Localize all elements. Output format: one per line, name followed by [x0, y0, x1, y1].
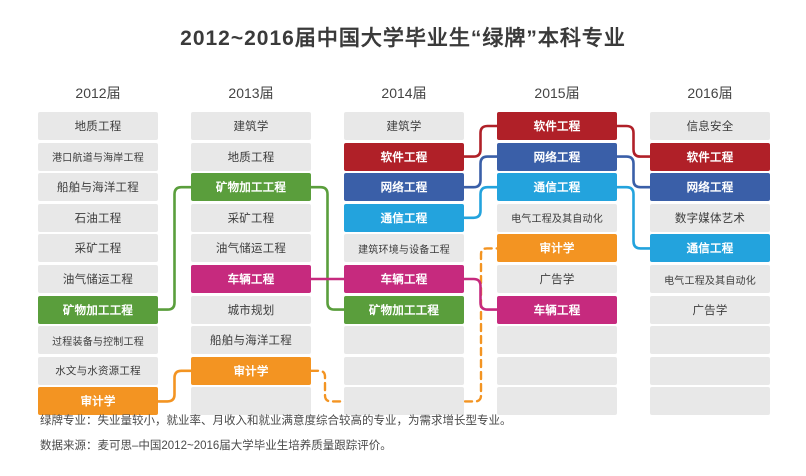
column-header-2015届: 2015届 — [497, 83, 617, 103]
major-cell[interactable]: 审计学 — [191, 357, 311, 385]
major-cell[interactable]: 电气工程及其自动化 — [650, 265, 770, 293]
major-cell[interactable]: 建筑学 — [191, 112, 311, 140]
major-cell[interactable]: 船舶与海洋工程 — [38, 173, 158, 201]
link-software-2015-2016 — [617, 126, 650, 157]
major-cell-empty — [497, 357, 617, 385]
major-cell[interactable]: 软件工程 — [344, 143, 464, 171]
link-comms-2015-2016 — [617, 187, 650, 248]
footnote-definition: 绿牌专业：失业量较小，就业率、月收入和就业满意度综合较高的专业，为需求增长型专业… — [40, 412, 512, 428]
major-cell[interactable]: 信息安全 — [650, 112, 770, 140]
link-audit-2012-2013 — [158, 371, 191, 402]
link-software-2014-2015 — [464, 126, 497, 157]
major-cell[interactable]: 城市规划 — [191, 296, 311, 324]
major-cell[interactable]: 地质工程 — [38, 112, 158, 140]
major-cell[interactable]: 油气储运工程 — [191, 234, 311, 262]
major-cell[interactable]: 水文与水资源工程 — [38, 357, 158, 385]
major-cell[interactable]: 广告学 — [650, 296, 770, 324]
major-cell-empty — [344, 357, 464, 385]
link-network-2015-2016 — [617, 157, 650, 188]
major-cell-empty — [650, 326, 770, 354]
link-network-2014-2015 — [464, 157, 497, 188]
major-cell[interactable]: 油气储运工程 — [38, 265, 158, 293]
major-cell-empty — [344, 326, 464, 354]
column-header-2016届: 2016届 — [650, 83, 770, 103]
major-cell[interactable]: 矿物加工工程 — [38, 296, 158, 324]
major-cell-empty — [650, 357, 770, 385]
major-cell[interactable]: 建筑学 — [344, 112, 464, 140]
link-mineral-2012-2013 — [158, 187, 191, 309]
page-title: 2012~2016届中国大学毕业生“绿牌”本科专业 — [0, 22, 806, 52]
major-cell[interactable]: 车辆工程 — [497, 296, 617, 324]
major-cell[interactable]: 软件工程 — [650, 143, 770, 171]
major-cell[interactable]: 采矿工程 — [38, 234, 158, 262]
major-cell[interactable]: 石油工程 — [38, 204, 158, 232]
column-header-2012届: 2012届 — [38, 83, 158, 103]
column-header-2014届: 2014届 — [344, 83, 464, 103]
column-header-2013届: 2013届 — [191, 83, 311, 103]
major-cell[interactable]: 矿物加工工程 — [344, 296, 464, 324]
major-cell[interactable]: 采矿工程 — [191, 204, 311, 232]
major-cell[interactable]: 地质工程 — [191, 143, 311, 171]
infographic-root: 2012~2016届中国大学毕业生“绿牌”本科专业 2012届地质工程港口航道与… — [0, 0, 806, 476]
major-cell[interactable]: 软件工程 — [497, 112, 617, 140]
major-cell-empty — [497, 326, 617, 354]
link-vehicle-2014-2015 — [464, 279, 497, 310]
major-cell-empty — [650, 387, 770, 415]
major-cell[interactable]: 通信工程 — [344, 204, 464, 232]
major-cell[interactable]: 港口航道与海岸工程 — [38, 143, 158, 171]
major-cell[interactable]: 过程装备与控制工程 — [38, 326, 158, 354]
link-mineral-2013-2014 — [311, 187, 344, 309]
major-cell[interactable]: 通信工程 — [650, 234, 770, 262]
footnote-source: 数据来源：麦可思–中国2012~2016届大学毕业生培养质量跟踪评价。 — [40, 437, 392, 453]
major-cell[interactable]: 车辆工程 — [344, 265, 464, 293]
major-cell[interactable]: 网络工程 — [344, 173, 464, 201]
major-cell[interactable]: 建筑环境与设备工程 — [344, 234, 464, 262]
major-cell[interactable]: 船舶与海洋工程 — [191, 326, 311, 354]
major-cell[interactable]: 广告学 — [497, 265, 617, 293]
major-cell[interactable]: 审计学 — [497, 234, 617, 262]
major-cell[interactable]: 网络工程 — [497, 143, 617, 171]
link-comms-2014-2015 — [464, 187, 497, 218]
major-cell[interactable]: 网络工程 — [650, 173, 770, 201]
major-cell[interactable]: 数字媒体艺术 — [650, 204, 770, 232]
major-cell[interactable]: 电气工程及其自动化 — [497, 204, 617, 232]
major-cell[interactable]: 通信工程 — [497, 173, 617, 201]
major-cell[interactable]: 矿物加工工程 — [191, 173, 311, 201]
major-cell[interactable]: 车辆工程 — [191, 265, 311, 293]
major-cell-empty — [497, 387, 617, 415]
